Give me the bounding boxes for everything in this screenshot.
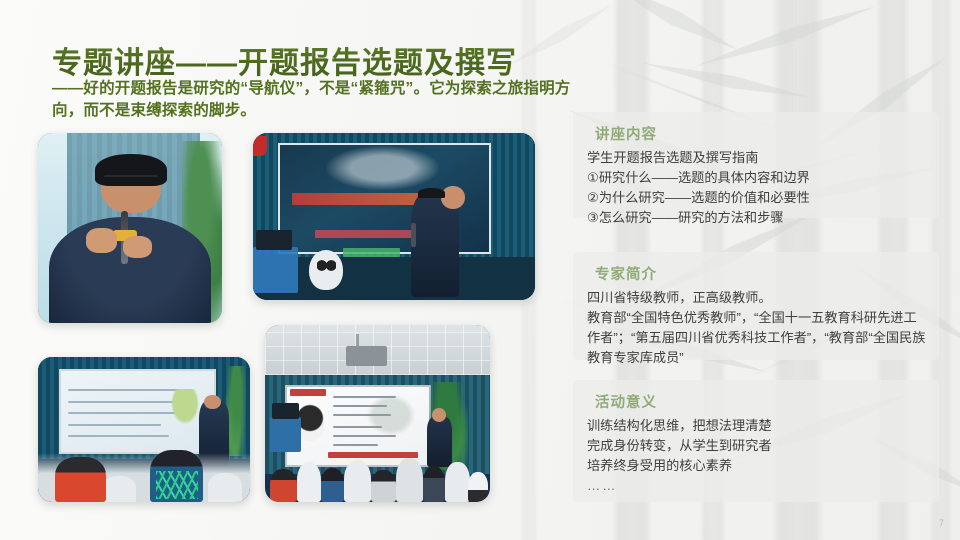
panel2-heading: 专家简介 [595, 263, 939, 284]
panel3-line-3: 培养终身受用的核心素养 [587, 456, 929, 476]
page-title: 专题讲座——开题报告选题及撰写 [52, 38, 517, 82]
panel1-line-4: ③怎么研究——研究的方法和步骤 [587, 208, 929, 228]
panel-lecture-content: 讲座内容 学生开题报告选题及撰写指南 ①研究什么——选题的具体内容和边界 ②为什… [573, 112, 939, 218]
panel3-line-4: …… [587, 476, 929, 496]
photo-audience-whiteboard [38, 357, 250, 502]
panel2-line-1: 四川省特级教师，正高级教师。 [587, 288, 929, 308]
panel1-line-1: 学生开题报告选题及撰写指南 [587, 148, 929, 168]
page-subtitle: ——好的开题报告是研究的“导航仪”，不是“紧箍咒”。它为探索之旅指明方向，而不是… [52, 78, 572, 123]
photo-hall-overview [265, 325, 490, 502]
panel-expert-profile: 专家简介 四川省特级教师，正高级教师。 教育部“全国特色优秀教师”，“全国十一五… [573, 252, 939, 360]
panel3-heading: 活动意义 [595, 391, 939, 412]
panel1-line-2: ①研究什么——选题的具体内容和边界 [587, 168, 929, 188]
slide: 专题讲座——开题报告选题及撰写 ——好的开题报告是研究的“导航仪”，不是“紧箍咒… [0, 0, 960, 540]
panel-activity-significance: 活动意义 训练结构化思维，把想法理清楚 完成身份转变，从学生到研究者 培养终身受… [573, 380, 939, 502]
panel3-line-1: 训练结构化思维，把想法理清楚 [587, 416, 929, 436]
panel1-heading: 讲座内容 [595, 123, 939, 144]
photo-speaker-stage [253, 133, 535, 300]
panel1-line-3: ②为什么研究——选题的价值和必要性 [587, 188, 929, 208]
photo-speaker-closeup [38, 133, 222, 323]
panel3-line-2: 完成身份转变，从学生到研究者 [587, 436, 929, 456]
panel2-line-2: 教育部“全国特色优秀教师”，“全国十一五教育科研先进工作者”；“第五届四川省优秀… [587, 308, 929, 368]
page-number: 7 [939, 518, 944, 528]
